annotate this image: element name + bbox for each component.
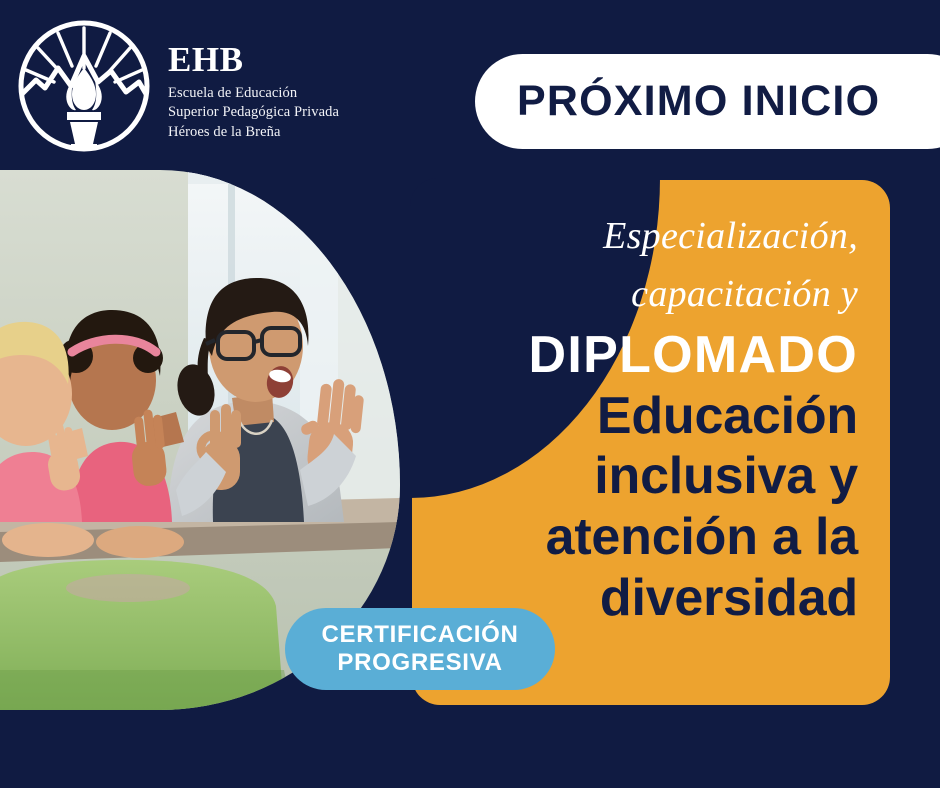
offer-title-line-3: atención a la (422, 509, 858, 566)
badge-line-2: PROGRESIVA (337, 649, 502, 677)
promotional-poster: EHB Escuela de Educación Superior Pedagó… (0, 0, 940, 788)
certificacion-progresiva-badge: CERTIFICACIÓN PROGRESIVA (285, 608, 555, 690)
brand-name-line-2: Superior Pedagógica Privada (168, 103, 339, 122)
offer-title-line-2: inclusiva y (422, 448, 858, 505)
torch-mountain-emblem-icon (14, 16, 154, 156)
offer-diplomado-label: DIPLOMADO (422, 326, 858, 384)
offer-script-line-1: Especialización, (422, 208, 858, 266)
offer-script-line-2: capacitación y (422, 266, 858, 324)
brand-name-line-1: Escuela de Educación (168, 84, 339, 103)
brand-full-name: Escuela de Educación Superior Pedagógica… (168, 84, 339, 142)
badge-line-1: CERTIFICACIÓN (321, 621, 518, 649)
proximo-inicio-banner: PRÓXIMO INICIO (475, 54, 940, 149)
brand-logo-text: EHB Escuela de Educación Superior Pedagó… (168, 16, 339, 142)
brand-name-line-3: Héroes de la Breña (168, 123, 339, 142)
brand-logo: EHB Escuela de Educación Superior Pedagó… (14, 16, 434, 156)
proximo-inicio-label: PRÓXIMO INICIO (517, 80, 880, 123)
brand-acronym: EHB (168, 42, 339, 77)
offer-title-line-1: Educación (422, 388, 858, 445)
